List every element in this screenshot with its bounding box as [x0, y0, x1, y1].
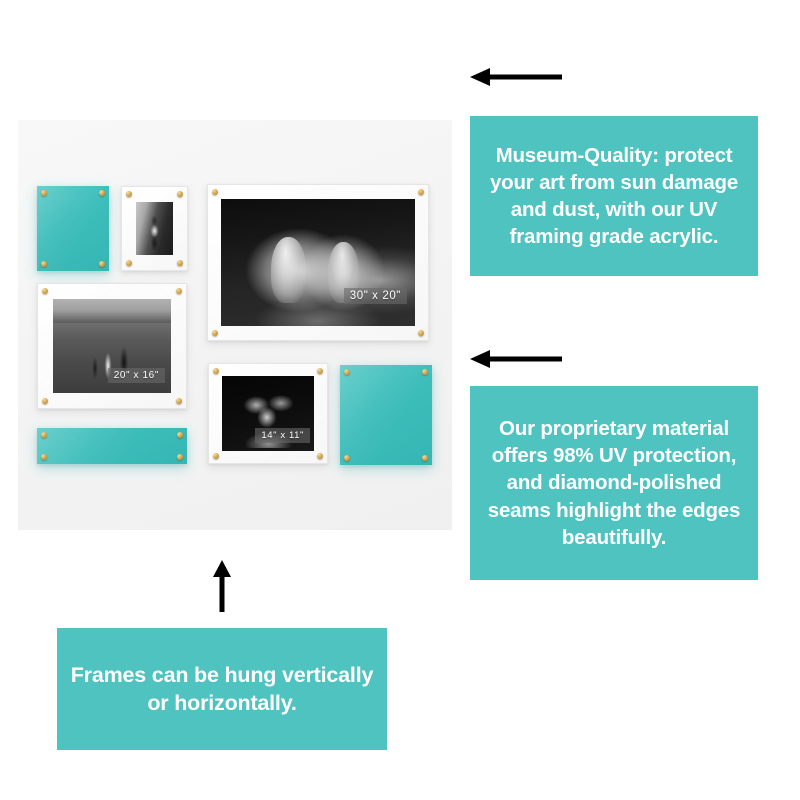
standoff-icon [41, 432, 47, 438]
photo-image: 20" x 16" [53, 299, 171, 393]
standoff-icon [344, 455, 350, 461]
callout-hanging-text: Frames can be hung vertically or horizon… [57, 661, 387, 718]
size-label-30x20: 30" x 20" [344, 288, 407, 304]
standoff-icon [212, 189, 218, 195]
callout-museum-quality: Museum-Quality: protect your art from su… [470, 116, 758, 276]
standoff-icon [177, 454, 183, 460]
standoff-icon [126, 260, 132, 266]
frame-panel-tall-left[interactable] [37, 186, 109, 271]
standoff-icon [177, 432, 183, 438]
arrow-up-bottom-icon [211, 558, 233, 614]
photo-scene-two-girls [221, 199, 415, 326]
standoff-icon [176, 398, 182, 404]
standoff-icon [177, 260, 183, 266]
arrow-left-top-icon [468, 66, 564, 88]
standoff-icon [212, 330, 218, 336]
standoff-icon [42, 288, 48, 294]
standoff-icon [213, 368, 219, 374]
photo-image: 30" x 20" [221, 199, 415, 326]
frame-panel-wide-bottom[interactable] [37, 428, 187, 464]
size-label-20x16: 20" x 16" [108, 368, 165, 383]
callout-uv-text: Our proprietary material offers 98% UV p… [470, 415, 758, 550]
standoff-icon [213, 453, 219, 459]
frame-photo-small-portrait[interactable] [121, 186, 188, 271]
frame-photo-large-landscape[interactable]: 30" x 20" [207, 184, 429, 341]
standoff-icon [41, 454, 47, 460]
callout-uv-protection: Our proprietary material offers 98% UV p… [470, 386, 758, 580]
standoff-icon [422, 455, 428, 461]
standoff-icon [317, 368, 323, 374]
arrow-left-middle-icon [468, 348, 564, 370]
standoff-icon [418, 189, 424, 195]
standoff-icon [177, 191, 183, 197]
photo-image: 14" x 11" [222, 376, 314, 451]
standoff-icon [422, 369, 428, 375]
frame-panel-tall-right[interactable] [340, 365, 432, 465]
standoff-icon [126, 191, 132, 197]
frame-photo-small-landscape[interactable]: 14" x 11" [208, 363, 328, 464]
standoff-icon [317, 453, 323, 459]
callout-hanging-orientation: Frames can be hung vertically or horizon… [57, 628, 387, 750]
infographic-canvas: 30" x 20" 20" x 16" 14" x 11" [0, 0, 800, 800]
frame-photo-medium-landscape[interactable]: 20" x 16" [37, 283, 187, 409]
standoff-icon [42, 398, 48, 404]
size-label-14x11: 14" x 11" [255, 428, 310, 443]
standoff-icon [344, 369, 350, 375]
standoff-icon [99, 261, 105, 267]
standoff-icon [41, 190, 47, 196]
photo-scene-child-on-path [136, 202, 173, 255]
standoff-icon [176, 288, 182, 294]
callout-museum-text: Museum-Quality: protect your art from su… [470, 142, 758, 250]
standoff-icon [418, 330, 424, 336]
photo-image [136, 202, 173, 255]
standoff-icon [99, 190, 105, 196]
standoff-icon [41, 261, 47, 267]
